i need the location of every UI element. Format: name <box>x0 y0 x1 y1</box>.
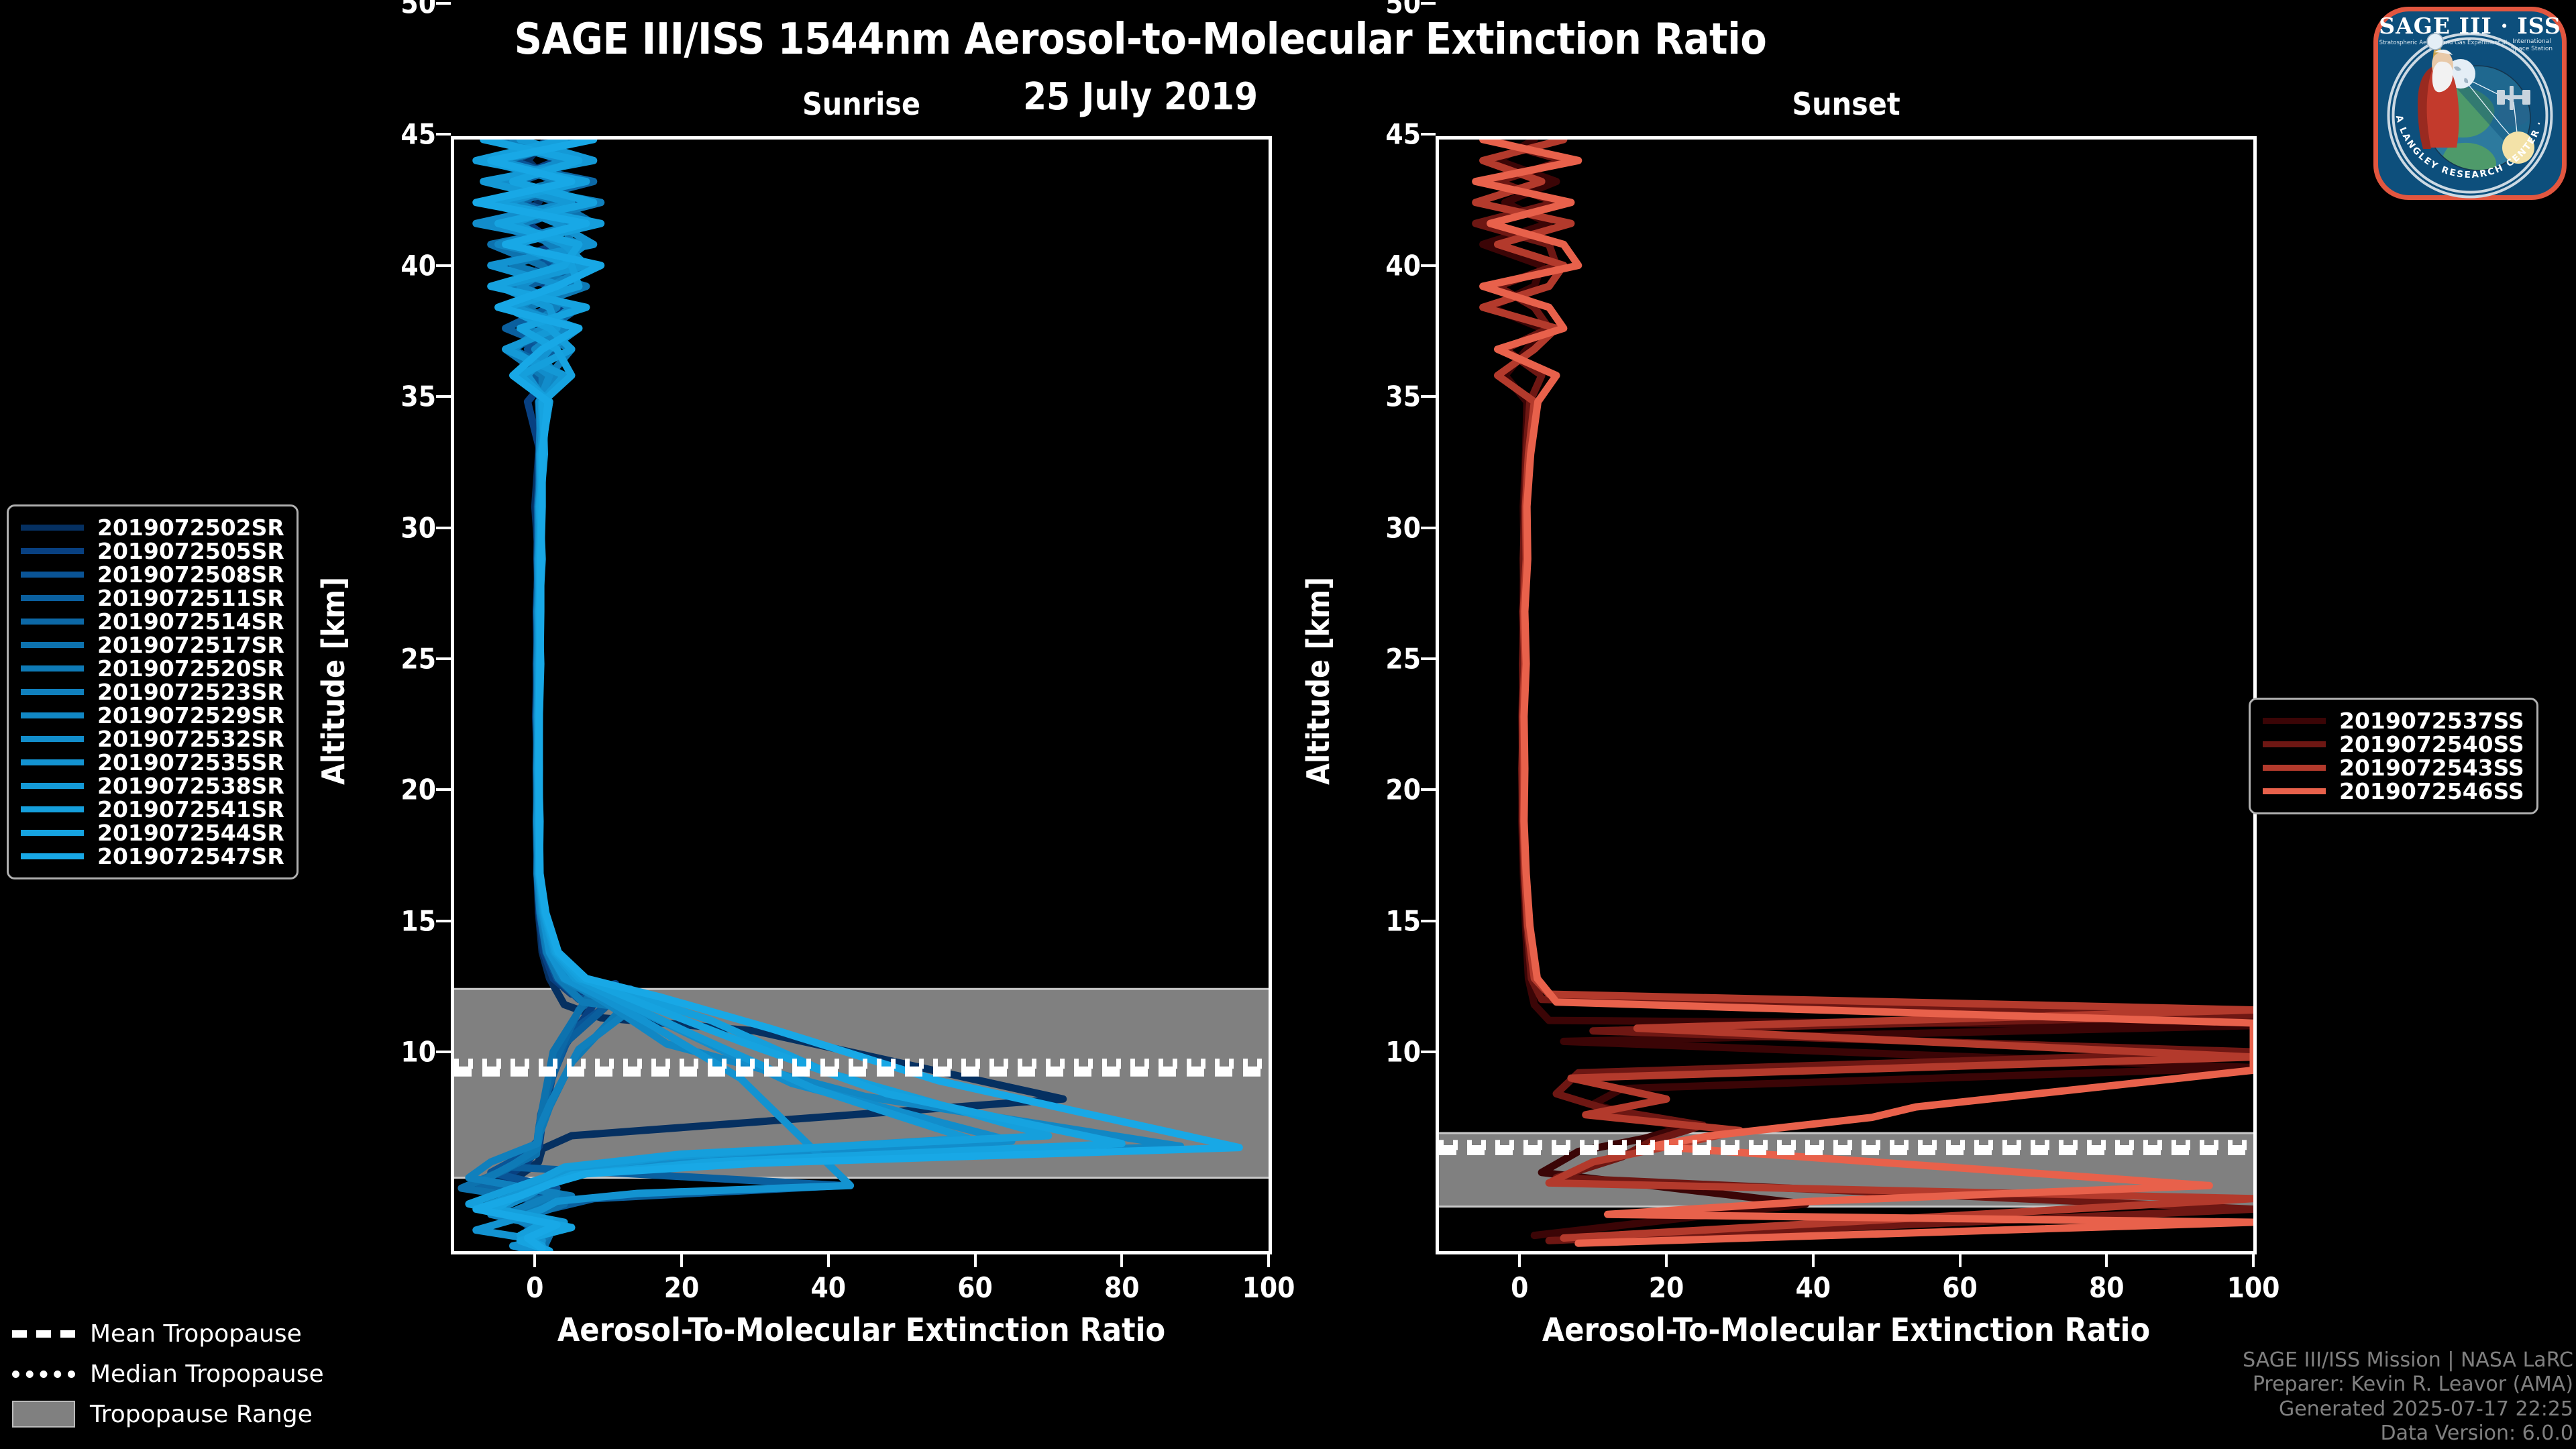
x-tick-mark <box>1665 1252 1668 1267</box>
y-tick-label: 35 <box>400 380 436 413</box>
sunset-legend-label: 2019072537SS <box>2339 708 2524 734</box>
sunrise-legend-item[interactable]: 2019072535SR <box>21 751 284 774</box>
line-swatch-icon <box>21 736 84 742</box>
y-tick-label: 40 <box>1385 249 1421 282</box>
x-tick-label: 0 <box>1511 1271 1528 1304</box>
y-tick-label: 50 <box>1385 0 1421 20</box>
y-tick-label: 30 <box>400 511 436 544</box>
line-swatch-icon <box>21 759 84 765</box>
sunset-x-axis-label: Aerosol-To-Molecular Extinction Ratio <box>1436 1311 2257 1349</box>
sunrise-legend-label: 2019072523SR <box>97 679 284 705</box>
x-tick-mark <box>827 1252 830 1267</box>
credits-line-data-version: Data Version: 6.0.0 <box>2243 1421 2573 1446</box>
sunrise-legend-label: 2019072502SR <box>97 515 284 541</box>
y-tick-mark <box>436 2 451 5</box>
y-tick-mark <box>1421 395 1436 398</box>
sunrise-legend-item[interactable]: 2019072529SR <box>21 704 284 727</box>
line-swatch-icon <box>21 548 84 554</box>
sunrise-legend-item[interactable]: 2019072547SR <box>21 845 284 868</box>
y-tick-mark <box>436 1051 451 1053</box>
sunset-legend-item[interactable]: 2019072540SS <box>2263 733 2524 756</box>
y-tick-label: 35 <box>1385 380 1421 413</box>
y-tick-mark <box>1421 2 1436 5</box>
sunrise-legend-label: 2019072529SR <box>97 702 284 729</box>
y-tick-mark <box>1421 264 1436 267</box>
x-tick-mark <box>1959 1252 1962 1267</box>
line-swatch-icon <box>2263 788 2326 794</box>
sunset-plot-area <box>1436 136 2257 1254</box>
sunrise-panel-heading: Sunrise <box>451 86 1272 122</box>
sunrise-legend-label: 2019072517SR <box>97 632 284 658</box>
sunset-legend-label: 2019072540SS <box>2339 731 2524 757</box>
sunrise-legend-label: 2019072541SR <box>97 796 284 822</box>
x-tick-label: 80 <box>1104 1271 1140 1304</box>
sunset-legend-label: 2019072543SS <box>2339 755 2524 781</box>
sunrise-legend-item[interactable]: 2019072517SR <box>21 633 284 657</box>
y-tick-label: 25 <box>400 643 436 676</box>
band-swatch-icon <box>12 1401 75 1428</box>
y-tick-label: 45 <box>400 118 436 151</box>
line-swatch-icon <box>21 525 84 531</box>
sunrise-legend-label: 2019072508SR <box>97 561 284 588</box>
y-tick-mark <box>436 920 451 922</box>
sunset-y-tickmarks <box>1421 0 1436 1118</box>
sunrise-y-tickmarks <box>436 0 451 1118</box>
line-swatch-icon <box>21 665 84 672</box>
line-swatch-icon <box>21 830 84 836</box>
y-tick-label: 40 <box>400 249 436 282</box>
y-tick-label: 25 <box>1385 643 1421 676</box>
y-tick-label: 15 <box>1385 904 1421 937</box>
sunset-profile-chart <box>1439 140 2253 1251</box>
sunset-legend-label: 2019072546SS <box>2339 778 2524 804</box>
y-tick-mark <box>1421 920 1436 922</box>
dashed-line-icon <box>12 1330 75 1338</box>
sunset-legend-item[interactable]: 2019072543SS <box>2263 756 2524 780</box>
line-swatch-icon <box>21 783 84 789</box>
x-tick-label: 40 <box>810 1271 846 1304</box>
sunrise-y-axis-label: Altitude [km] <box>315 577 352 785</box>
line-swatch-icon <box>21 712 84 718</box>
legend-label-mean-tropopause: Mean Tropopause <box>90 1320 302 1348</box>
sunrise-legend-label: 2019072505SR <box>97 538 284 564</box>
sunrise-legend-item[interactable]: 2019072538SR <box>21 774 284 798</box>
credits-line-preparer: Preparer: Kevin R. Leavor (AMA) <box>2243 1373 2573 1397</box>
sunrise-x-axis-ticks: 020406080100 <box>451 1271 1272 1311</box>
y-tick-mark <box>1421 1051 1436 1053</box>
sunrise-legend[interactable]: 2019072502SR2019072505SR2019072508SR2019… <box>7 504 299 879</box>
sunrise-x-axis-label: Aerosol-To-Molecular Extinction Ratio <box>451 1311 1272 1349</box>
sunrise-legend-item[interactable]: 2019072505SR <box>21 539 284 563</box>
sunrise-legend-item[interactable]: 2019072520SR <box>21 657 284 680</box>
x-tick-mark <box>1120 1252 1123 1267</box>
sunrise-legend-label: 2019072520SR <box>97 655 284 682</box>
line-swatch-icon <box>21 806 84 812</box>
line-swatch-icon <box>21 572 84 578</box>
y-tick-mark <box>436 527 451 529</box>
x-tick-mark <box>680 1252 683 1267</box>
line-swatch-icon <box>2263 765 2326 771</box>
y-tick-mark <box>436 264 451 267</box>
line-swatch-icon <box>2263 741 2326 747</box>
sunrise-legend-label: 2019072544SR <box>97 820 284 846</box>
y-tick-mark <box>1421 788 1436 791</box>
y-tick-mark <box>1421 657 1436 660</box>
y-tick-label: 20 <box>1385 773 1421 806</box>
y-tick-label: 15 <box>400 904 436 937</box>
sunrise-plot-area <box>451 136 1272 1254</box>
x-tick-mark <box>2252 1252 2255 1267</box>
legend-item-mean-tropopause: Mean Tropopause <box>12 1313 324 1354</box>
sunrise-profile-chart <box>454 140 1269 1251</box>
sunset-panel-heading: Sunset <box>1436 86 2257 122</box>
sunrise-legend-label: 2019072538SR <box>97 773 284 799</box>
line-swatch-icon <box>21 642 84 648</box>
logo-subtitle-right-2: Space Station <box>2511 46 2553 52</box>
x-tick-label: 60 <box>1942 1271 1978 1304</box>
credits-line-generated: Generated 2025-07-17 22:25 <box>2243 1397 2573 1422</box>
line-swatch-icon <box>21 689 84 695</box>
y-tick-label: 20 <box>400 773 436 806</box>
y-tick-mark <box>1421 133 1436 136</box>
x-tick-label: 40 <box>1795 1271 1831 1304</box>
sunrise-legend-item[interactable]: 2019072508SR <box>21 563 284 586</box>
sunrise-legend-item[interactable]: 2019072511SR <box>21 586 284 610</box>
tropopause-legend: Mean Tropopause Median Tropopause Tropop… <box>12 1313 324 1434</box>
x-tick-label: 20 <box>664 1271 700 1304</box>
y-tick-label: 10 <box>1385 1036 1421 1069</box>
logo-subtitle-right-1: International <box>2512 38 2551 45</box>
y-tick-mark <box>1421 527 1436 529</box>
x-tick-label: 100 <box>2227 1271 2280 1304</box>
sunset-x-axis-ticks: 020406080100 <box>1436 1271 2257 1311</box>
legend-item-median-tropopause: Median Tropopause <box>12 1354 324 1394</box>
x-tick-mark <box>533 1252 536 1267</box>
legend-item-tropopause-range: Tropopause Range <box>12 1394 324 1434</box>
x-tick-mark <box>1518 1252 1521 1267</box>
sunrise-legend-label: 2019072511SR <box>97 585 284 611</box>
line-swatch-icon <box>21 853 84 859</box>
x-tick-label: 0 <box>526 1271 543 1304</box>
y-tick-mark <box>436 395 451 398</box>
credits-line-mission: SAGE III/ISS Mission | NASA LaRC <box>2243 1348 2573 1373</box>
sunrise-legend-item[interactable]: 2019072514SR <box>21 610 284 633</box>
legend-label-median-tropopause: Median Tropopause <box>90 1360 324 1388</box>
sunrise-legend-label: 2019072535SR <box>97 749 284 775</box>
page-title: SAGE III/ISS 1544nm Aerosol-to-Molecular… <box>0 15 2281 64</box>
sunrise-legend-label: 2019072547SR <box>97 843 284 869</box>
x-tick-label: 20 <box>1649 1271 1684 1304</box>
x-tick-label: 80 <box>2089 1271 2125 1304</box>
x-tick-mark <box>974 1252 977 1267</box>
sunset-legend-item[interactable]: 2019072537SS <box>2263 709 2524 733</box>
y-tick-mark <box>436 788 451 791</box>
sunset-legend-item[interactable]: 2019072546SS <box>2263 780 2524 803</box>
x-tick-label: 100 <box>1242 1271 1295 1304</box>
y-tick-label: 45 <box>1385 118 1421 151</box>
dotted-line-icon <box>12 1371 75 1378</box>
y-tick-label: 50 <box>400 0 436 20</box>
sunset-y-axis-ticks: 101520253035404550 <box>1347 0 1421 1118</box>
sunrise-legend-item[interactable]: 2019072541SR <box>21 798 284 821</box>
x-tick-mark <box>1267 1252 1270 1267</box>
x-tick-mark <box>2105 1252 2108 1267</box>
x-tick-mark <box>1812 1252 1815 1267</box>
y-tick-mark <box>436 657 451 660</box>
sunrise-legend-label: 2019072532SR <box>97 726 284 752</box>
line-swatch-icon <box>21 619 84 625</box>
sage-iii-iss-mission-patch-logo: SAGE III · ISS Stratospheric Aerosol and… <box>2369 3 2571 204</box>
sunrise-legend-item[interactable]: 2019072532SR <box>21 727 284 751</box>
y-tick-mark <box>436 133 451 136</box>
sunrise-legend-item[interactable]: 2019072502SR <box>21 516 284 539</box>
sunset-legend[interactable]: 2019072537SS2019072540SS2019072543SS2019… <box>2249 698 2538 814</box>
sunrise-legend-item[interactable]: 2019072544SR <box>21 821 284 845</box>
line-swatch-icon <box>2263 718 2326 724</box>
sunrise-y-axis-ticks: 101520253035404550 <box>362 0 436 1118</box>
x-tick-label: 60 <box>957 1271 993 1304</box>
sunrise-legend-label: 2019072514SR <box>97 608 284 635</box>
sunrise-legend-item[interactable]: 2019072523SR <box>21 680 284 704</box>
logo-title: SAGE III · ISS <box>2379 13 2561 39</box>
sunset-y-axis-label: Altitude [km] <box>1300 577 1336 785</box>
credits-block: SAGE III/ISS Mission | NASA LaRC Prepare… <box>2243 1348 2573 1446</box>
legend-label-tropopause-range: Tropopause Range <box>90 1401 313 1428</box>
y-tick-label: 10 <box>400 1036 436 1069</box>
line-swatch-icon <box>21 595 84 601</box>
y-tick-label: 30 <box>1385 511 1421 544</box>
